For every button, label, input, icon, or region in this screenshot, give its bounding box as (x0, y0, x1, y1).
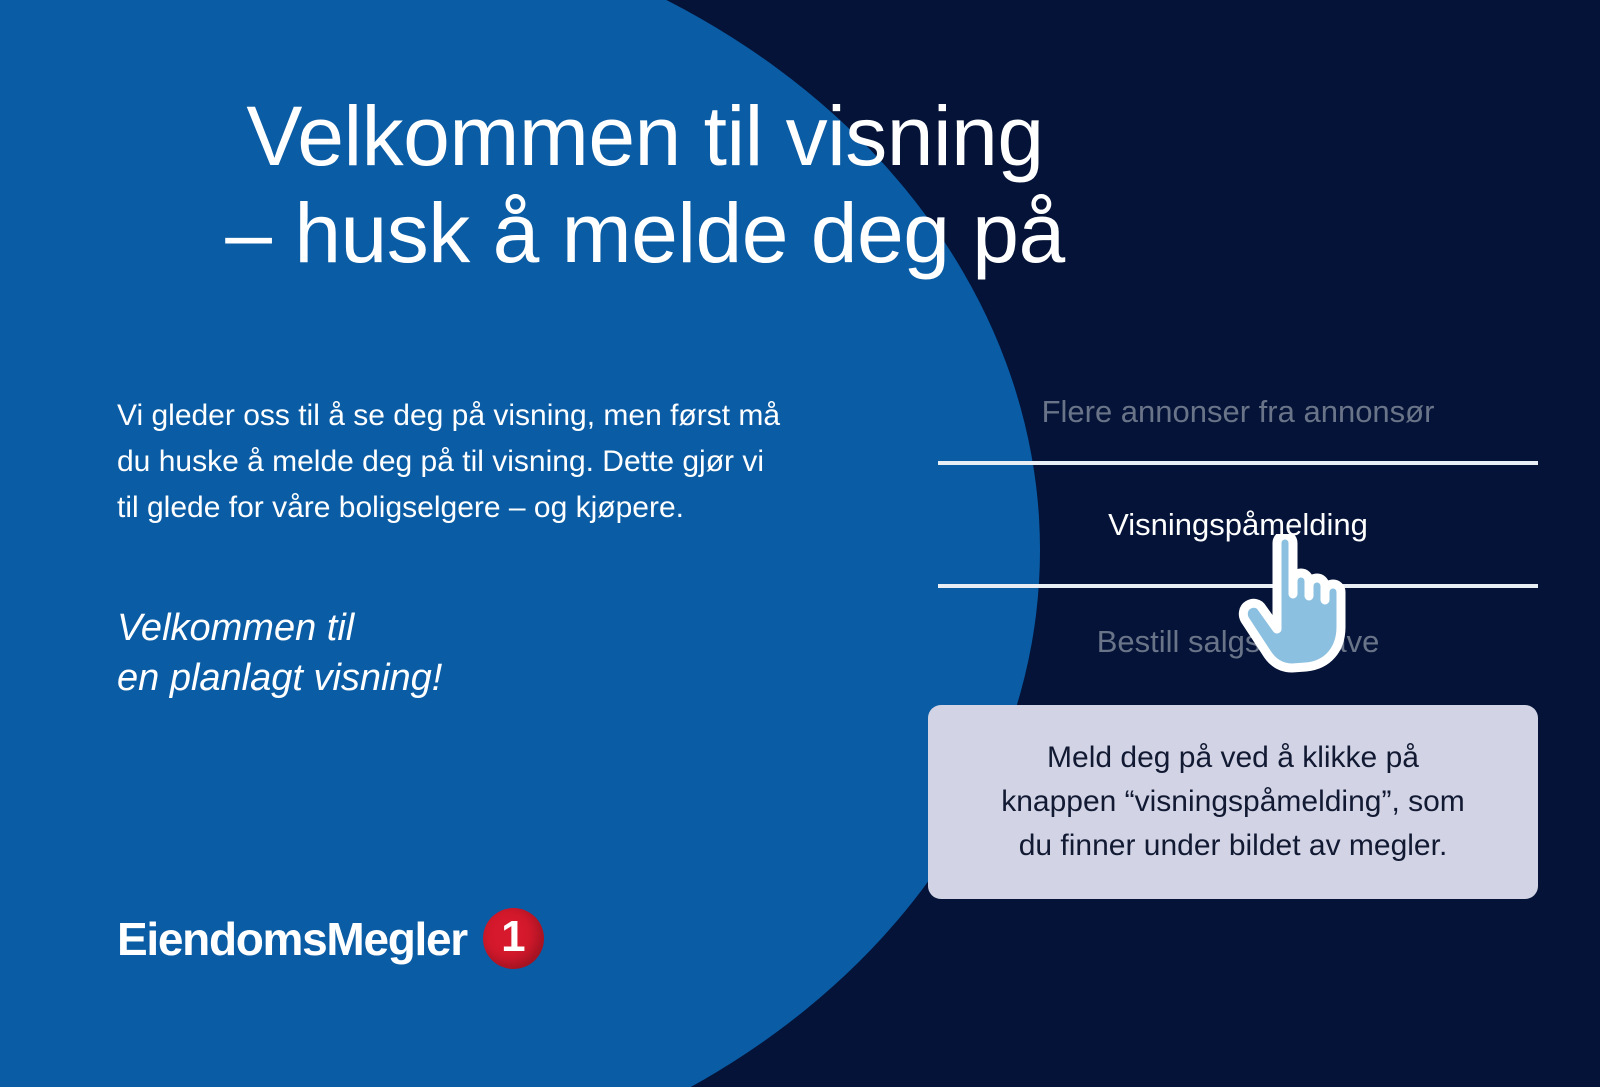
eiendomsmegler1-logo: EiendomsMegler 1 (117, 908, 544, 969)
instruction-callout-text: Meld deg på ved å klikke på knappen “vis… (981, 736, 1485, 868)
circle-badge-icon: 1 (483, 908, 544, 969)
logo-wordmark: EiendomsMegler (117, 912, 467, 966)
body-paragraph: Vi gleder oss til å se deg på visning, m… (117, 393, 887, 531)
page-title: Velkommen til visning – husk å melde deg… (0, 88, 1290, 281)
menu-item-flere-annonser[interactable]: Flere annonser fra annonsør (938, 396, 1538, 461)
slide-canvas: Velkommen til visning – husk å melde deg… (0, 0, 1600, 1087)
instruction-callout: Meld deg på ved å klikke på knappen “vis… (928, 705, 1538, 899)
logo-badge-number: 1 (483, 908, 544, 969)
tagline: Velkommen til en planlagt visning! (117, 603, 887, 703)
left-content-column: Vi gleder oss til å se deg på visning, m… (117, 393, 887, 703)
pointing-hand-cursor-icon (1236, 534, 1358, 674)
